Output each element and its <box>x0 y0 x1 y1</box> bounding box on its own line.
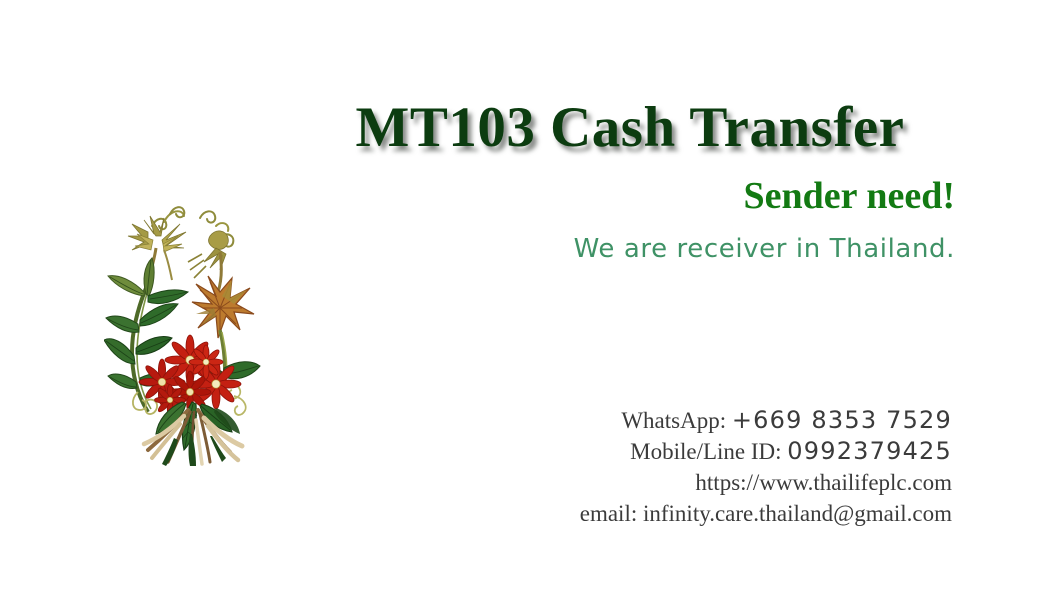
contact-line-whatsapp: WhatsApp: +669 8353 7529 <box>430 405 952 436</box>
email-address[interactable]: infinity.care.thailand@gmail.com <box>643 501 952 526</box>
contact-line-mobile: Mobile/Line ID: 0992379425 <box>430 436 952 467</box>
page-tagline: We are receiver in Thailand. <box>300 234 955 265</box>
contact-block: WhatsApp: +669 8353 7529 Mobile/Line ID:… <box>430 405 952 529</box>
whatsapp-label: WhatsApp: <box>621 408 726 433</box>
email-label: email: <box>580 501 637 526</box>
flyer-canvas: MT103 Cash Transfer Sender need! We are … <box>0 0 1063 600</box>
page-subtitle: Sender need! <box>300 176 955 218</box>
contact-line-email: email: infinity.care.thailand@gmail.com <box>430 498 952 529</box>
floral-wreath-illustration <box>104 196 262 466</box>
website-url[interactable]: https://www.thailifeplc.com <box>695 470 952 495</box>
mobile-line-number[interactable]: 0992379425 <box>787 437 952 465</box>
page-title: MT103 Cash Transfer <box>300 98 960 158</box>
whatsapp-number[interactable]: +669 8353 7529 <box>732 406 952 434</box>
mobile-line-label: Mobile/Line ID: <box>630 439 781 464</box>
contact-line-website: https://www.thailifeplc.com <box>430 467 952 498</box>
